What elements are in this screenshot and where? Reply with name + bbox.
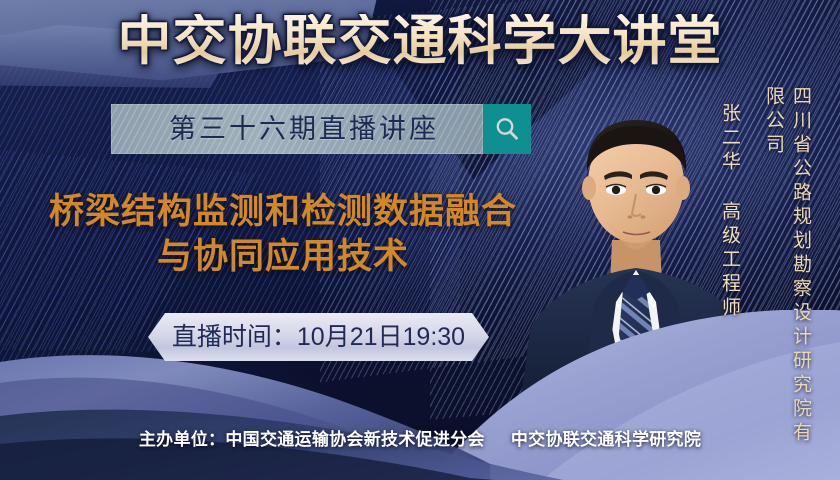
footer-org-2: 中交协联交通科学研究院	[511, 430, 701, 449]
footer-org-1: 中国交通运输协会新技术促进分会	[225, 430, 485, 449]
search-icon	[493, 115, 521, 143]
episode-banner-label: 第三十六期直播讲座	[111, 104, 483, 154]
footer-prefix: 主办单位：	[139, 430, 226, 449]
speaker-organization: 四川省公路规划勘察设计研究院有限公司	[760, 86, 814, 446]
webinar-poster: 中交协联交通科学大讲堂 第三十六期直播讲座 桥梁结构监测和检测数据融合 与协同应…	[0, 0, 840, 480]
lecture-topic: 桥梁结构监测和检测数据融合 与协同应用技术	[18, 190, 548, 280]
footer-organizers: 主办单位：中国交通运输协会新技术促进分会中交协联交通科学研究院	[0, 425, 840, 450]
search-icon-box[interactable]	[483, 104, 531, 154]
lecture-topic-line2: 与协同应用技术	[18, 235, 548, 280]
page-title: 中交协联交通科学大讲堂	[0, 14, 840, 68]
lecture-topic-line1: 桥梁结构监测和检测数据融合	[18, 190, 548, 235]
speaker-name-and-rank: 张二华 高级工程师	[716, 103, 743, 343]
episode-banner: 第三十六期直播讲座	[111, 104, 483, 154]
broadcast-time-text: 直播时间：10月21日19:30	[148, 313, 489, 361]
